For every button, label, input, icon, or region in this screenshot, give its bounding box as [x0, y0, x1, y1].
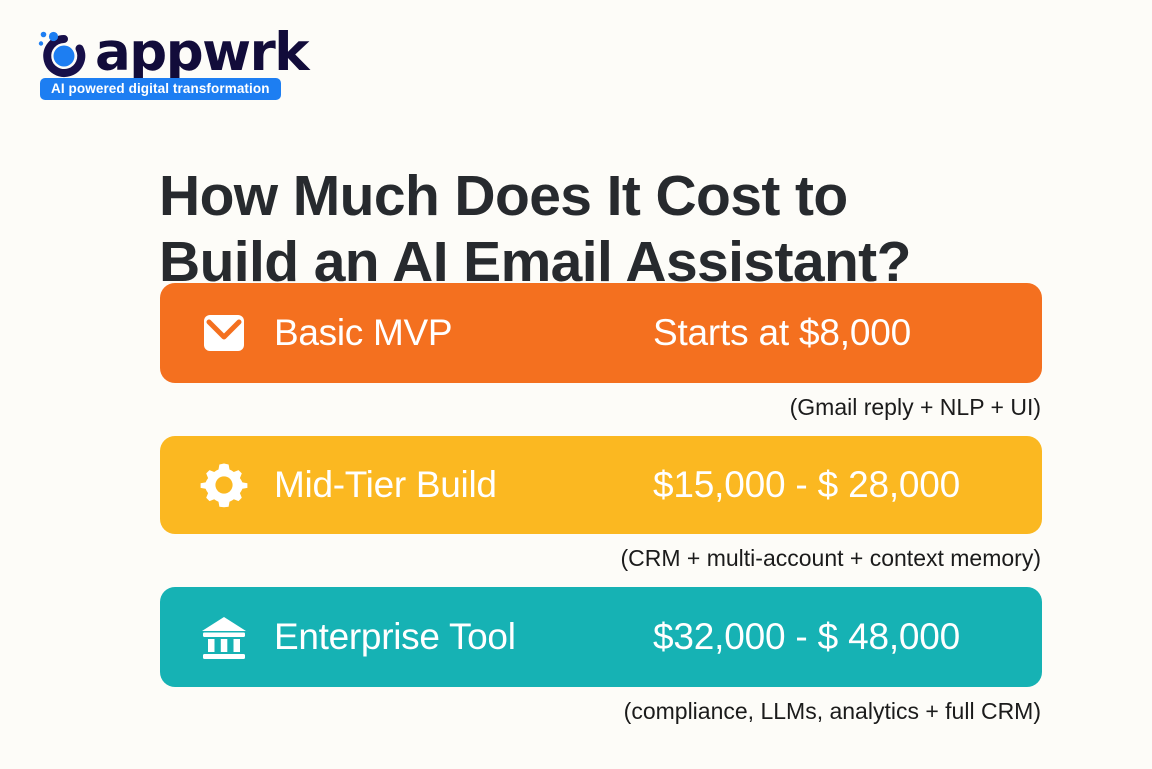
tier-price-enterprise-tool: $32,000 - $ 48,000: [653, 616, 960, 658]
tier-caption-enterprise-tool: (compliance, LLMs, analytics + full CRM): [160, 687, 1042, 726]
tier-name-mid-tier-build: Mid-Tier Build: [274, 464, 497, 506]
tier-name-enterprise-tool: Enterprise Tool: [274, 616, 516, 658]
tier-caption-basic-mvp: (Gmail reply + NLP + UI): [160, 383, 1042, 422]
brand-logo: appwrk AI powered digital transformation: [33, 17, 333, 105]
page-title: How Much Does It Cost to Build an AI Ema…: [159, 163, 1019, 295]
pricing-tier-list: Basic MVP Starts at $8,000 (Gmail reply …: [160, 283, 1042, 740]
tier-price-basic-mvp: Starts at $8,000: [653, 312, 911, 354]
gear-icon: [198, 459, 250, 511]
envelope-icon: [198, 307, 250, 359]
tier-bar-mid-tier-build[interactable]: Mid-Tier Build $15,000 - $ 28,000: [160, 436, 1042, 534]
tier-caption-mid-tier-build: (CRM + multi-account + context memory): [160, 534, 1042, 573]
bank-icon: [198, 611, 250, 663]
pricing-tier-basic-mvp: Basic MVP Starts at $8,000 (Gmail reply …: [160, 283, 1042, 422]
page-title-line-1: How Much Does It Cost to: [159, 163, 1019, 229]
pricing-tier-enterprise-tool: Enterprise Tool $32,000 - $ 48,000 (comp…: [160, 587, 1042, 726]
brand-tagline: AI powered digital transformation: [40, 78, 281, 100]
tier-bar-basic-mvp[interactable]: Basic MVP Starts at $8,000: [160, 283, 1042, 383]
tier-bar-enterprise-tool[interactable]: Enterprise Tool $32,000 - $ 48,000: [160, 587, 1042, 687]
brand-wordmark: appwrk: [95, 24, 308, 82]
pricing-tier-mid-tier-build: Mid-Tier Build $15,000 - $ 28,000 (CRM +…: [160, 436, 1042, 573]
tier-name-basic-mvp: Basic MVP: [274, 312, 452, 354]
tier-price-mid-tier-build: $15,000 - $ 28,000: [653, 464, 960, 506]
